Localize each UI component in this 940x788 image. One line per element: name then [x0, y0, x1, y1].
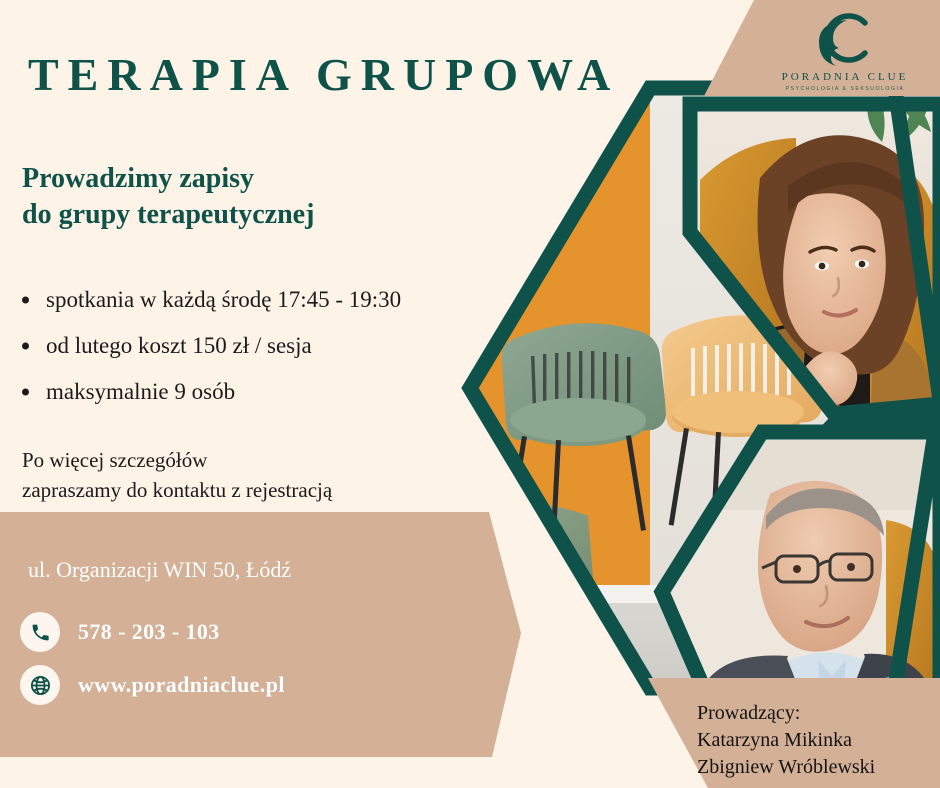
- logo-brand-name: PORADNIA CLUE: [760, 71, 930, 83]
- poster-canvas: PORADNIA CLUE PSYCHOLOGIA & SEKSUOLOGIA …: [0, 0, 940, 788]
- presenter-name-2: Zbigniew Wróblewski: [697, 754, 875, 781]
- bullet-dot-icon: [22, 389, 29, 396]
- details-list: spotkania w każdą środę 17:45 - 19:30 od…: [18, 277, 401, 415]
- globe-icon: [20, 665, 60, 705]
- presenter-name-1: Katarzyna Mikinka: [697, 727, 875, 754]
- bullet-dot-icon: [22, 343, 29, 350]
- list-item: spotkania w każdą środę 17:45 - 19:30: [18, 277, 401, 323]
- phone-icon: [20, 612, 60, 652]
- phone-contact-row[interactable]: 578 - 203 - 103: [20, 612, 220, 652]
- website-url: www.poradniaclue.pl: [78, 672, 285, 698]
- website-contact-row[interactable]: www.poradniaclue.pl: [20, 665, 285, 705]
- contact-note-line-2: zapraszamy do kontaktu z rejestracją: [22, 476, 332, 506]
- subtitle: Prowadzimy zapisy do grupy terapeutyczne…: [22, 161, 314, 233]
- list-item: od lutego koszt 150 zł / sesja: [18, 323, 401, 369]
- subtitle-line-2: do grupy terapeutycznej: [22, 197, 314, 233]
- logo-tagline: PSYCHOLOGIA & SEKSUOLOGIA: [760, 86, 930, 92]
- bullet-dot-icon: [22, 297, 29, 304]
- list-item-label: od lutego koszt 150 zł / sesja: [46, 333, 312, 358]
- contact-note: Po więcej szczegółów zapraszamy do konta…: [22, 446, 332, 506]
- list-item-label: maksymalnie 9 osób: [46, 379, 235, 404]
- list-item: maksymalnie 9 osób: [18, 369, 401, 415]
- page-title: TERAPIA GRUPOWA: [28, 48, 619, 101]
- list-item-label: spotkania w każdą środę 17:45 - 19:30: [46, 287, 401, 312]
- phone-number: 578 - 203 - 103: [78, 619, 220, 645]
- subtitle-line-1: Prowadzimy zapisy: [22, 161, 314, 197]
- presenters-block: Prowadzący: Katarzyna Mikinka Zbigniew W…: [697, 700, 875, 780]
- presenters-label: Prowadzący:: [697, 700, 875, 727]
- contact-note-line-1: Po więcej szczegółów: [22, 446, 332, 476]
- address-text: ul. Organizacji WIN 50, Łódź: [28, 557, 291, 583]
- logo: PORADNIA CLUE PSYCHOLOGIA & SEKSUOLOGIA: [760, 8, 930, 92]
- letter-c-face-logo-icon: [813, 8, 877, 68]
